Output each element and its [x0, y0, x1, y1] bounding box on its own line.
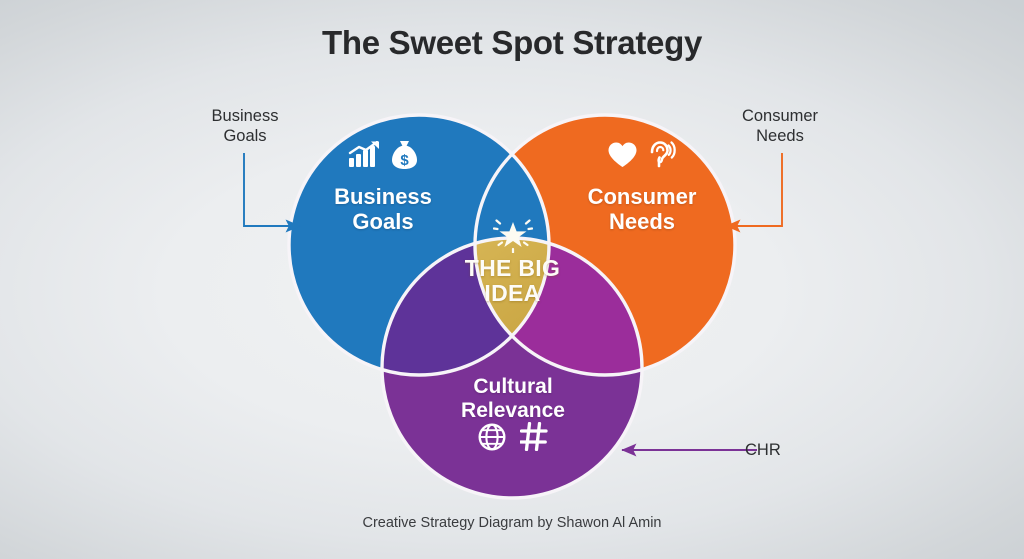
annotation-label-consumer: Consumer Needs [717, 106, 843, 146]
annotation-arrow-consumer [726, 153, 782, 226]
annotation-label-business-line2: Goals [183, 126, 307, 146]
annotation-label-business-line1: Business [183, 106, 307, 126]
annotation-label-business: Business Goals [183, 106, 307, 146]
footer-credit: Creative Strategy Diagram by Shawon Al A… [0, 515, 1024, 531]
annotation-arrow-business [244, 153, 300, 226]
annotation-label-chr: CHR [745, 440, 829, 460]
diagram-canvas: The Sweet Spot Strategy [0, 0, 1024, 559]
annotation-label-consumer-line2: Needs [717, 126, 843, 146]
annotation-label-chr-line1: CHR [745, 440, 829, 460]
annotation-label-consumer-line1: Consumer [717, 106, 843, 126]
annotation-arrows [0, 0, 1024, 559]
